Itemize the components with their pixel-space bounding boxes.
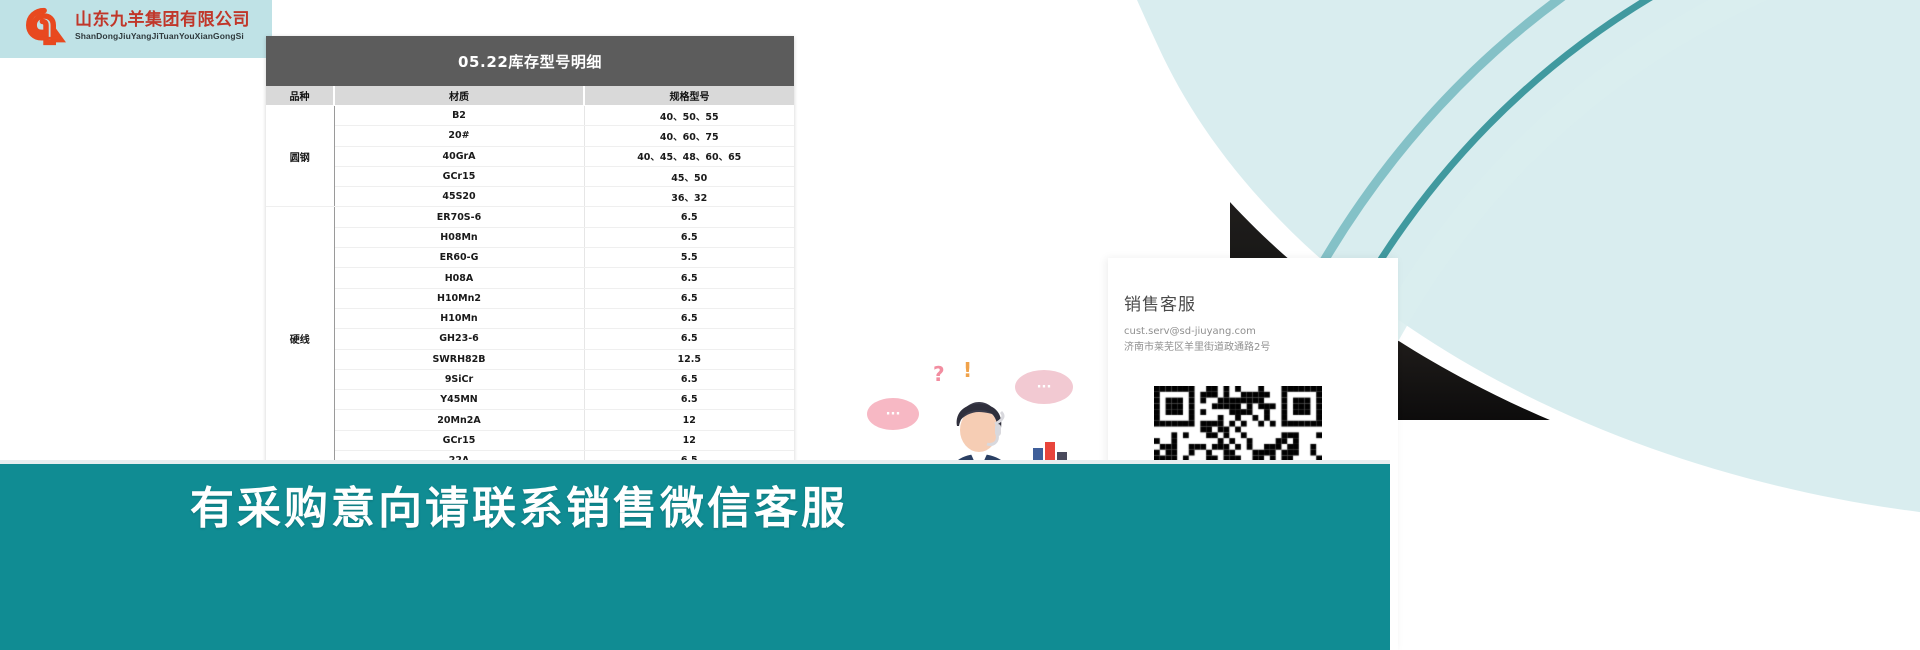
table-row: H10Mn26.5 <box>266 288 794 308</box>
exclamation-mark-icon: ! <box>963 358 972 382</box>
table-row: 20#40、60、75 <box>266 126 794 146</box>
table-row: GH23-66.5 <box>266 329 794 349</box>
cell-material: B2 <box>334 106 584 126</box>
table-row: 硬线ER70S-66.5 <box>266 207 794 227</box>
table-row: SWRH82B12.5 <box>266 349 794 369</box>
cta-banner-text: 有采购意向请联系销售微信客服 <box>190 472 848 536</box>
table-row: GCr1512 <box>266 430 794 450</box>
steel-coil <box>1582 172 1734 324</box>
banner-divider <box>0 460 1390 464</box>
speech-bubble-dots: ··· <box>867 398 919 430</box>
contact-title: 销售客服 <box>1124 290 1196 315</box>
cell-spec: 5.5 <box>584 248 794 268</box>
cell-spec: 36、32 <box>584 187 794 207</box>
cell-material: 45S20 <box>334 187 584 207</box>
cta-banner: 有采购意向请联系销售微信客服 <box>0 460 1390 650</box>
cell-material: GH23-6 <box>334 329 584 349</box>
cell-category: 硬线 <box>266 207 334 471</box>
cell-material: 20Mn2A <box>334 410 584 430</box>
table-row: 45S2036、32 <box>266 187 794 207</box>
steel-coil <box>1582 66 1698 182</box>
cell-spec: 12.5 <box>584 349 794 369</box>
contact-email[interactable]: cust.serv@sd-jiuyang.com <box>1124 324 1270 340</box>
cell-material: H10Mn2 <box>334 288 584 308</box>
cell-material: ER60-G <box>334 248 584 268</box>
steel-coil <box>1796 62 1920 186</box>
table-row: GCr1545、50 <box>266 166 794 186</box>
table-row: 40GrA40、45、48、60、65 <box>266 146 794 166</box>
cell-material: Y45MN <box>334 390 584 410</box>
cell-category: 圆钢 <box>266 106 334 207</box>
question-mark-icon: ? <box>933 362 945 386</box>
cell-spec: 40、60、75 <box>584 126 794 146</box>
cell-material: GCr15 <box>334 430 584 450</box>
poster-canvas: 山东九羊集团有限公司 ShanDongJiuYangJiTuanYouXianG… <box>0 0 1920 650</box>
table-row: Y45MN6.5 <box>266 390 794 410</box>
cell-material: 9SiCr <box>334 369 584 389</box>
col-header-spec: 规格型号 <box>584 86 794 106</box>
col-header-material: 材质 <box>334 86 584 106</box>
cell-spec: 12 <box>584 430 794 450</box>
steel-coil <box>1452 176 1600 324</box>
cell-spec: 12 <box>584 410 794 430</box>
table-row: H08Mn6.5 <box>266 227 794 247</box>
table-row: ER60-G5.5 <box>266 248 794 268</box>
company-name-pinyin: ShanDongJiuYangJiTuanYouXianGongSi <box>75 32 250 41</box>
cell-spec: 6.5 <box>584 288 794 308</box>
stock-table: 品种 材质 规格型号 圆钢B240、50、5520#40、60、7540GrA4… <box>266 86 794 512</box>
cell-material: SWRH82B <box>334 349 584 369</box>
cell-material: 20# <box>334 126 584 146</box>
cell-spec: 6.5 <box>584 207 794 227</box>
col-header-category: 品种 <box>266 86 334 106</box>
bubble-dots-text: ··· <box>886 407 901 422</box>
brand-header: 山东九羊集团有限公司 ShanDongJiuYangJiTuanYouXianG… <box>0 0 272 58</box>
cell-spec: 40、45、48、60、65 <box>584 146 794 166</box>
stock-table-card: 05.22库存型号明细 品种 材质 规格型号 圆钢B240、50、5520#40… <box>266 36 794 512</box>
cell-spec: 40、50、55 <box>584 106 794 126</box>
table-row: H10Mn6.5 <box>266 308 794 328</box>
jiuyang-logo-icon <box>24 6 68 46</box>
cell-spec: 6.5 <box>584 268 794 288</box>
cell-material: GCr15 <box>334 166 584 186</box>
ceiling-light-beam <box>1530 0 1740 58</box>
table-title: 05.22库存型号明细 <box>266 36 794 86</box>
cell-material: H10Mn <box>334 308 584 328</box>
table-row: 圆钢B240、50、55 <box>266 106 794 126</box>
cell-spec: 6.5 <box>584 308 794 328</box>
contact-details: cust.serv@sd-jiuyang.com 济南市莱芜区羊里街道政通路2号 <box>1124 324 1270 356</box>
steel-coil <box>1682 58 1812 188</box>
cell-material: H08A <box>334 268 584 288</box>
cell-spec: 6.5 <box>584 369 794 389</box>
cell-spec: 6.5 <box>584 390 794 410</box>
cell-material: ER70S-6 <box>334 207 584 227</box>
cell-material: H08Mn <box>334 227 584 247</box>
cell-material: 40GrA <box>334 146 584 166</box>
table-header-row: 品种 材质 规格型号 <box>266 86 794 106</box>
cell-spec: 6.5 <box>584 227 794 247</box>
company-name-cn: 山东九羊集团有限公司 <box>75 12 250 29</box>
ceiling-rail <box>1230 58 1920 63</box>
table-row: 20Mn2A12 <box>266 410 794 430</box>
table-row: H08A6.5 <box>266 268 794 288</box>
stock-table-body: 圆钢B240、50、5520#40、60、7540GrA40、45、48、60、… <box>266 106 794 512</box>
cell-spec: 6.5 <box>584 329 794 349</box>
table-row: 9SiCr6.5 <box>266 369 794 389</box>
ceiling-light-beam <box>1790 0 1920 50</box>
contact-address: 济南市莱芜区羊里街道政通路2号 <box>1124 340 1270 356</box>
cell-spec: 45、50 <box>584 166 794 186</box>
